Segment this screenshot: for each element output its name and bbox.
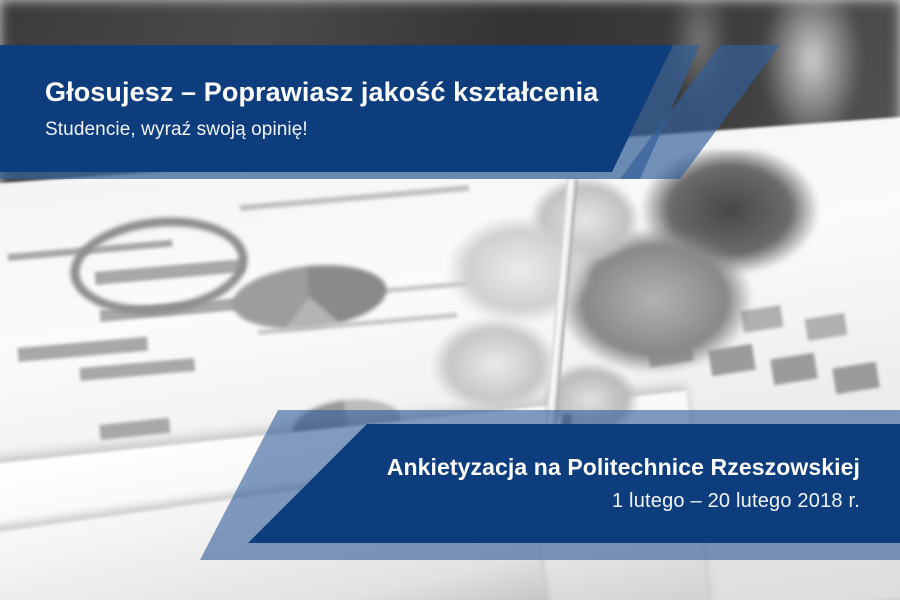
poster-banner: Głosujesz – Poprawiasz jakość kształceni… [0, 0, 900, 600]
page-title: Głosujesz – Poprawiasz jakość kształceni… [45, 77, 645, 108]
event-title: Ankietyzacja na Politechnice Rzeszowskie… [387, 454, 860, 481]
page-subtitle: Studencie, wyraź swoją opinię! [45, 119, 645, 141]
bottom-banner-text-group: Ankietyzacja na Politechnice Rzeszowskie… [240, 424, 860, 543]
top-banner-text-group: Głosujesz – Poprawiasz jakość kształceni… [45, 45, 645, 172]
event-date-range: 1 lutego – 20 lutego 2018 r. [612, 490, 860, 513]
